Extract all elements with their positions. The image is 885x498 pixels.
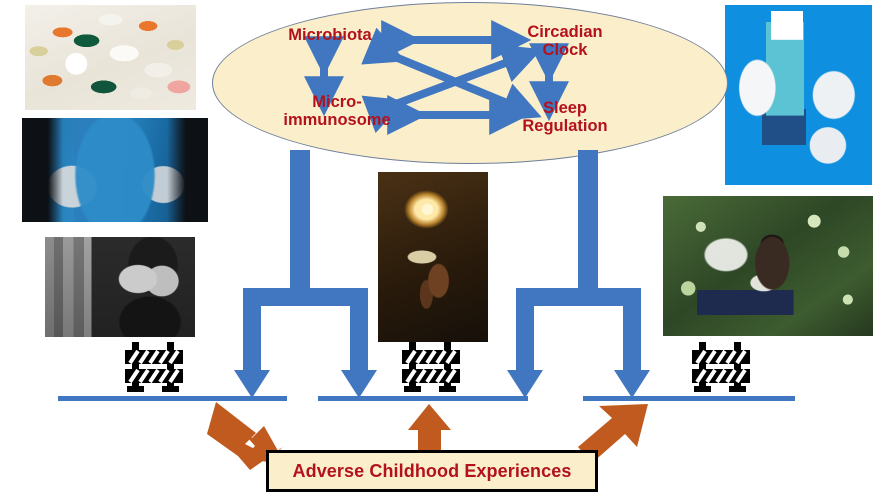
orange-arrows	[0, 0, 885, 498]
figure-canvas: Microbiota Circadian Clock Micro- immuno…	[0, 0, 885, 498]
adverse-childhood-experiences-label: Adverse Childhood Experiences	[293, 461, 572, 482]
adverse-childhood-experiences-box[interactable]: Adverse Childhood Experiences	[266, 450, 598, 492]
